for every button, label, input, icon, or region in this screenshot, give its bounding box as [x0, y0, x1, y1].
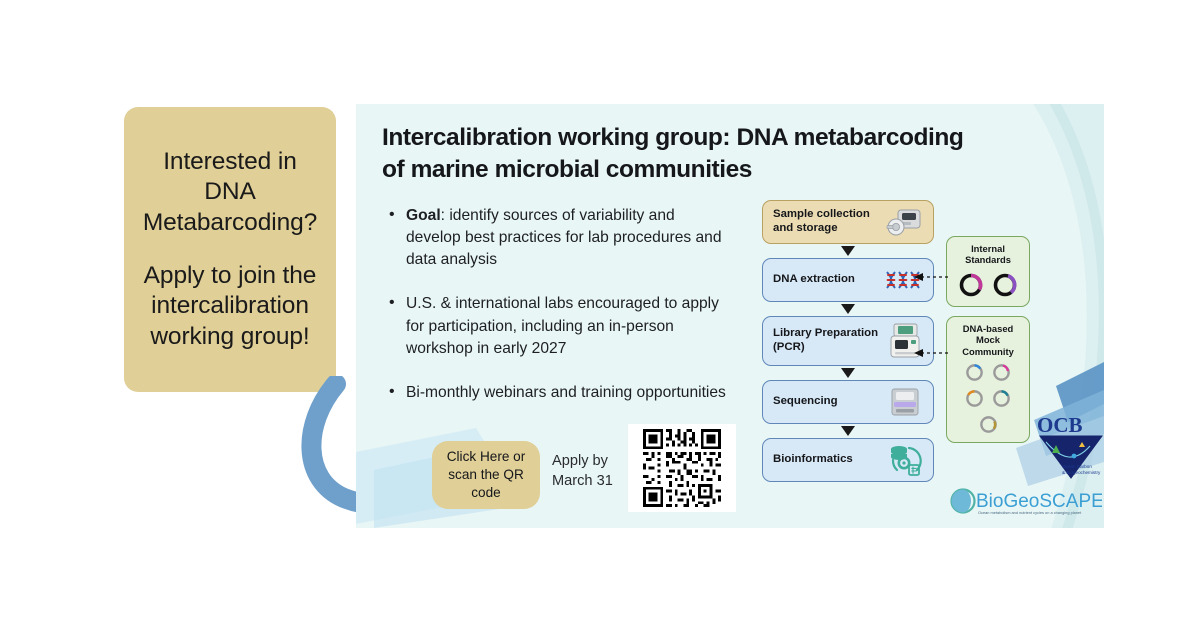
plasmid-ring-icon [978, 414, 999, 435]
flow-connector-arrow [762, 302, 934, 316]
peristaltic-pump-icon [885, 205, 925, 239]
side-box-title-line-1: DNA-based [963, 323, 1014, 334]
plasmid-ring-icon [991, 388, 1012, 409]
apply-by-text: Apply by March 31 [552, 451, 630, 492]
side-box-title-line-2: Standards [965, 254, 1011, 265]
flow-step-label: Library Preparation (PCR) [773, 327, 885, 355]
database-gear-icon [885, 443, 925, 477]
flow-step-bioinformatics: Bioinformatics [762, 438, 934, 482]
callout-line-2: DNA [204, 177, 255, 208]
side-box-title-line-1: Internal [971, 243, 1005, 254]
callout-line-5: intercalibration [151, 291, 309, 322]
list-item: Bi-monthly webinars and training opportu… [386, 382, 726, 404]
flow-step-label: DNA extraction [773, 273, 885, 287]
bullet-text: Bi-monthly webinars and training opportu… [406, 384, 726, 401]
callout-line-3: Metabarcoding? [143, 208, 317, 239]
bullet-list: Goal: identify sources of variability an… [386, 205, 726, 426]
plasmid-ring-icon [991, 271, 1019, 299]
bullet-text: U.S. & international labs encouraged to … [406, 295, 719, 356]
poster-canvas: Interested in DNA Metabarcoding? Apply t… [0, 0, 1200, 630]
ocb-logo: OCB Ocean Carbon & Biogeochemistry [1034, 412, 1104, 484]
callout-line-4: Apply to join the [144, 261, 317, 292]
list-item: Goal: identify sources of variability an… [386, 205, 726, 271]
flow-step-label: Sample collection and storage [773, 208, 885, 236]
title-line-1: Intercalibration working group: DNA meta… [382, 124, 963, 151]
plasmid-ring-group [951, 271, 1025, 299]
plasmid-ring-group [951, 362, 1025, 435]
flow-step-library-preparation: Library Preparation (PCR) [762, 316, 934, 366]
biogeoscapes-logo: BioGeoSCAPES Ocean metabolism and nutrie… [950, 484, 1102, 520]
dashed-connector-internal-standards [912, 270, 948, 288]
callout-line-1: Interested in [163, 147, 297, 178]
flow-connector-arrow [762, 366, 934, 380]
side-box-title: Internal Standards [951, 243, 1025, 266]
plasmid-ring-icon [957, 271, 985, 299]
mock-community-box: DNA-based Mock Community [946, 316, 1030, 443]
ocb-logo-subtitle-1: Ocean Carbon [1062, 464, 1092, 469]
dashed-connector-mock-community [912, 346, 948, 364]
side-box-title: DNA-based Mock Community [951, 323, 1025, 357]
flow-step-sequencing: Sequencing [762, 380, 934, 424]
plasmid-ring-icon [991, 362, 1012, 383]
flow-step-dna-extraction: DNA extraction [762, 258, 934, 302]
sequencer-icon [885, 385, 925, 419]
click-here-button[interactable]: Click Here or scan the QR code [432, 441, 540, 509]
biogeoscapes-wordmark: BioGeoSCAPES [976, 491, 1102, 512]
plasmid-ring-icon [964, 388, 985, 409]
callout-box: Interested in DNA Metabarcoding? Apply t… [124, 107, 336, 392]
bullet-lead: Goal [406, 207, 441, 224]
flow-step-label: Bioinformatics [773, 453, 885, 467]
list-item: U.S. & international labs encouraged to … [386, 293, 726, 359]
callout-line-6: working group! [150, 322, 309, 353]
internal-standards-box: Internal Standards [946, 236, 1030, 307]
poster-card: Intercalibration working group: DNA meta… [356, 104, 1104, 528]
workflow-diagram: Sample collection and storage DNA extrac… [762, 200, 942, 482]
title-line-2: of marine microbial communities [382, 156, 752, 183]
plasmid-ring-icon [964, 362, 985, 383]
biogeoscapes-tagline: Ocean metabolism and nutrient cycles on … [978, 510, 1082, 515]
ocb-logo-subtitle-2: & Biogeochemistry [1062, 470, 1101, 475]
flow-step-sample-collection: Sample collection and storage [762, 200, 934, 244]
page-title: Intercalibration working group: DNA meta… [382, 122, 1042, 187]
bullet-text: : identify sources of variability and de… [406, 207, 722, 268]
flow-step-label: Sequencing [773, 395, 885, 409]
flow-connector-arrow [762, 424, 934, 438]
side-box-title-line-2: Mock Community [962, 334, 1014, 356]
ocb-logo-text: OCB [1037, 413, 1083, 437]
qr-code[interactable] [628, 424, 736, 512]
flow-connector-arrow [762, 244, 934, 258]
